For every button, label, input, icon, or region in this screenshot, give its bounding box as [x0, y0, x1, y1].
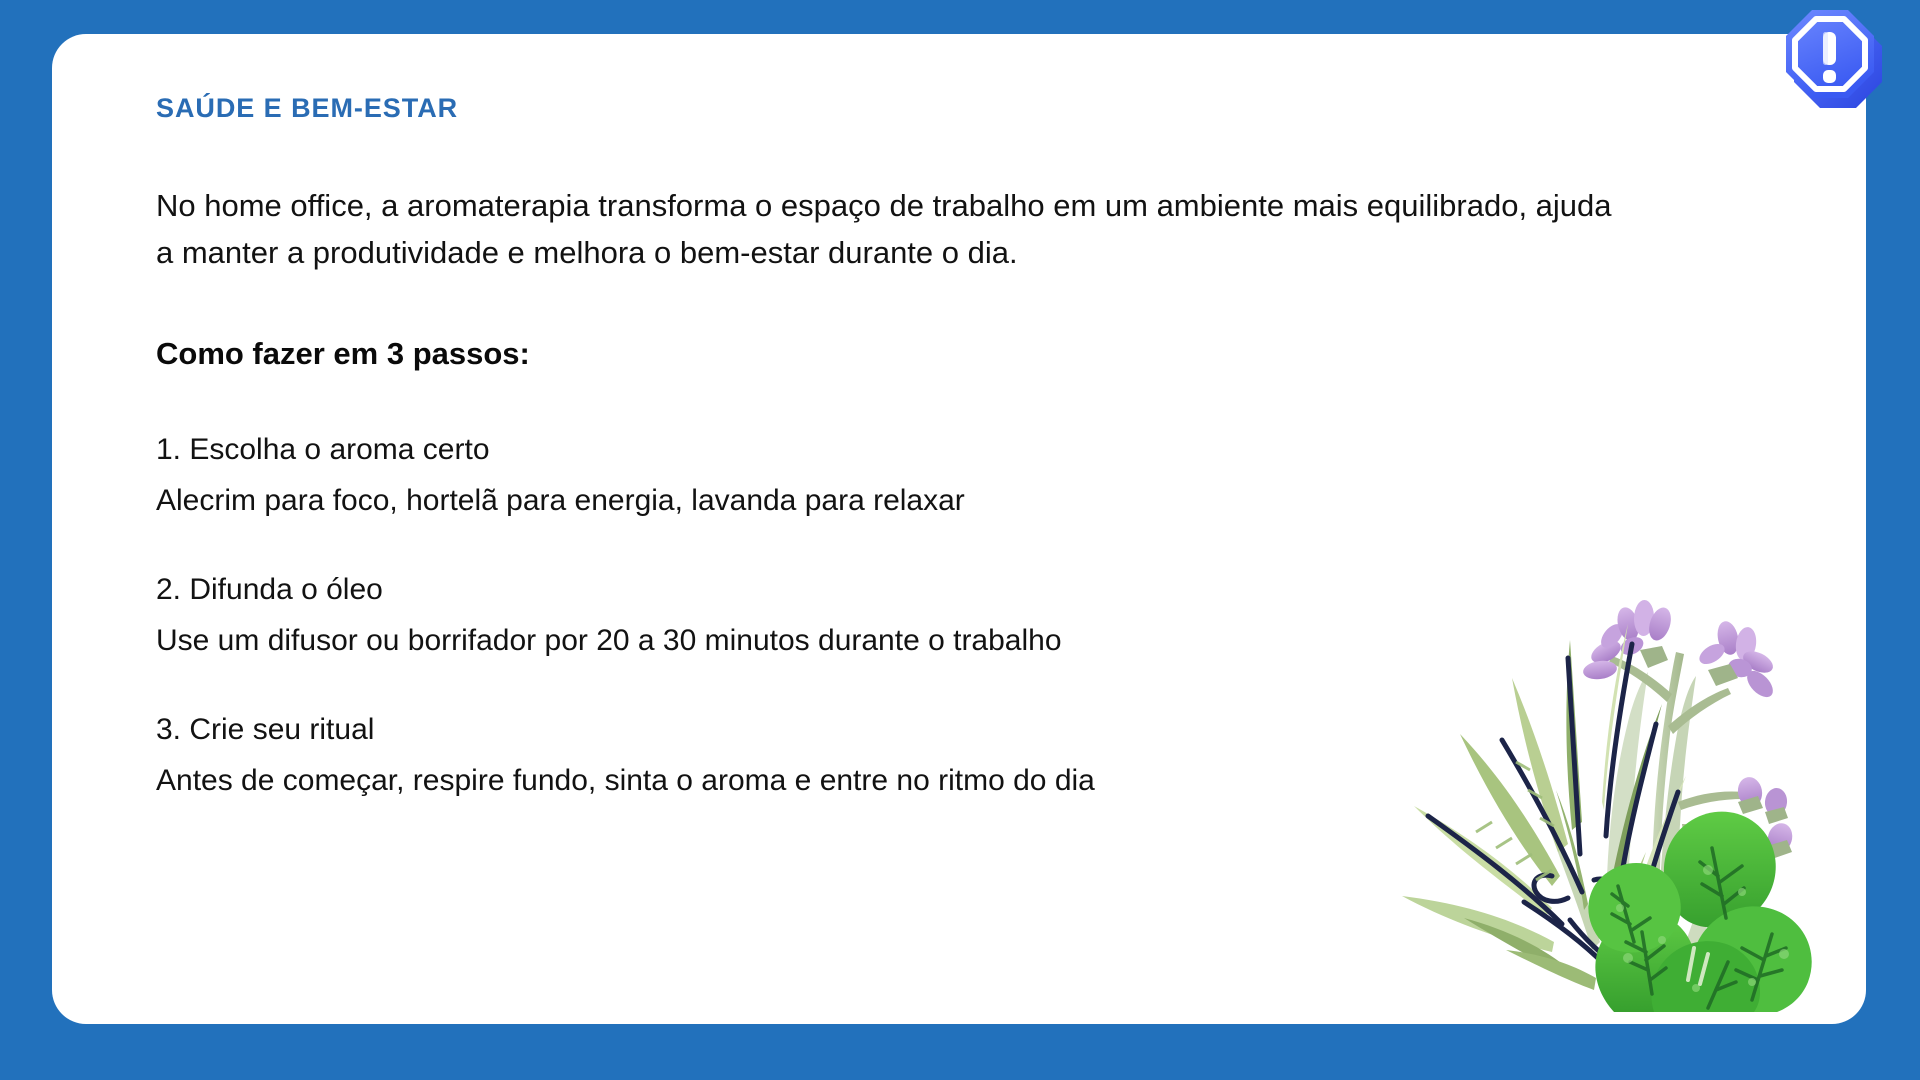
- step-title: 3. Crie seu ritual: [156, 707, 1716, 752]
- content-card: SAÚDE E BEM-ESTAR No home office, a arom…: [52, 34, 1866, 1024]
- content-column: SAÚDE E BEM-ESTAR No home office, a arom…: [156, 94, 1716, 803]
- list-item: 2. Difunda o óleo Use um difusor ou borr…: [156, 567, 1716, 663]
- step-title: 2. Difunda o óleo: [156, 567, 1716, 612]
- step-description: Antes de começar, respire fundo, sinta o…: [156, 758, 1716, 803]
- lavender-buds: [1736, 775, 1796, 859]
- slide-root: SAÚDE E BEM-ESTAR No home office, a arom…: [0, 0, 1920, 1080]
- mint-plant: [1588, 812, 1811, 1012]
- step-description: Use um difusor ou borrifador por 20 a 30…: [156, 618, 1716, 663]
- step-description: Alecrim para foco, hortelã para energia,…: [156, 478, 1716, 523]
- alert-badge[interactable]: !: [1776, 6, 1904, 134]
- eyebrow-category-label: SAÚDE E BEM-ESTAR: [156, 94, 1716, 124]
- intro-paragraph: No home office, a aromaterapia transform…: [156, 182, 1626, 276]
- section-title: Como fazer em 3 passos:: [156, 332, 1716, 375]
- list-item: 3. Crie seu ritual Antes de começar, res…: [156, 707, 1716, 803]
- steps-list: 1. Escolha o aroma certo Alecrim para fo…: [156, 427, 1716, 803]
- exclamation-icon: [1823, 32, 1836, 83]
- list-item: 1. Escolha o aroma certo Alecrim para fo…: [156, 427, 1716, 523]
- step-title: 1. Escolha o aroma certo: [156, 427, 1716, 472]
